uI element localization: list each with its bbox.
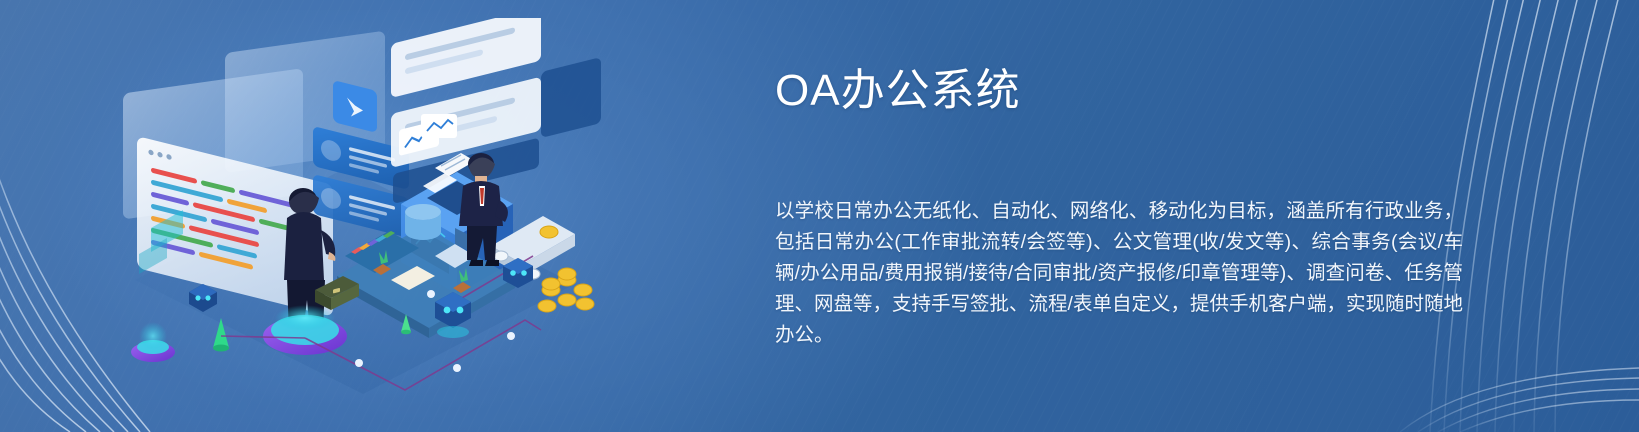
banner-copy: OA办公系统 以学校日常办公无纸化、自动化、网络化、移动化为目标，涵盖所有行政业… [775, 0, 1475, 432]
office-illustration [105, 18, 625, 398]
page-title: OA办公系统 [775, 66, 1021, 115]
banner-description: 以学校日常办公无纸化、自动化、网络化、移动化为目标，涵盖所有行政业务，包括日常办… [775, 196, 1463, 351]
oa-system-banner: OA办公系统 以学校日常办公无纸化、自动化、网络化、移动化为目标，涵盖所有行政业… [0, 0, 1639, 432]
